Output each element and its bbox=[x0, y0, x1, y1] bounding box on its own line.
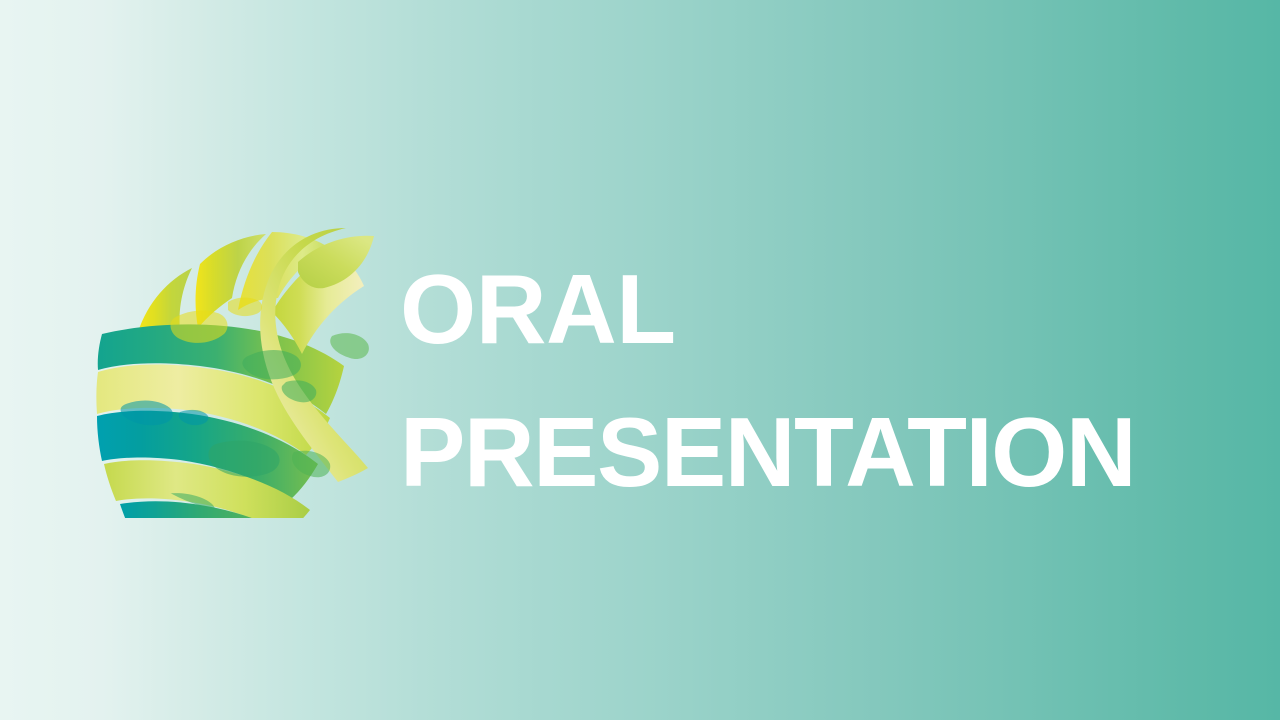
spiral-ribbon-globe-logo-icon bbox=[96, 206, 382, 518]
presentation-slide: ORAL PRESENTATION bbox=[0, 0, 1280, 720]
page-title-line-2: PRESENTATION bbox=[400, 381, 1200, 524]
page-title-line-1: ORAL bbox=[400, 238, 1200, 381]
slide-title-block: ORAL PRESENTATION bbox=[400, 238, 1200, 524]
